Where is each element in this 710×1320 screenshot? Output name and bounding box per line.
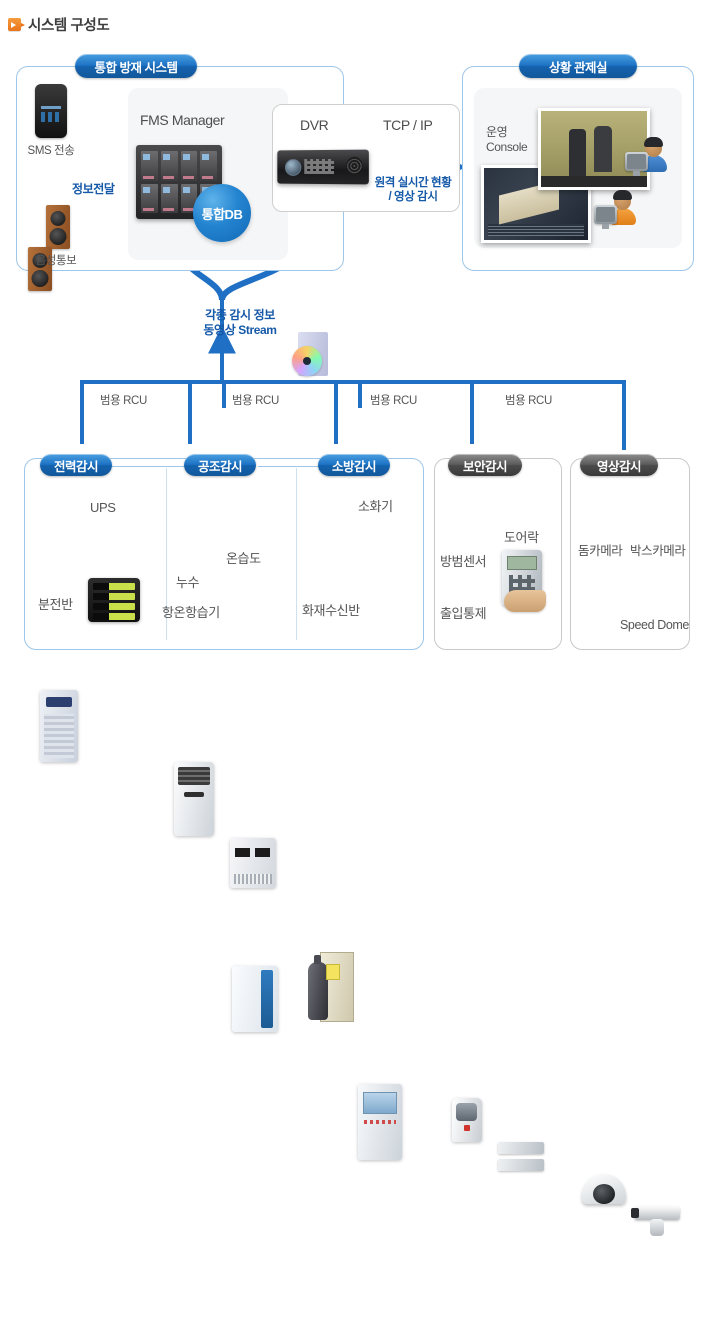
operator-blue-icon xyxy=(645,140,667,172)
rcu-bus-drop-3 xyxy=(334,380,338,444)
remote-label-line2: / 영상 감시 xyxy=(363,190,463,204)
operator-monitor-1-icon xyxy=(625,152,648,171)
distribution-panel-label: 분전반 xyxy=(38,594,73,613)
box-camera-icon xyxy=(634,1206,684,1240)
dome-camera-label: 돔카메라 xyxy=(578,540,622,559)
stream-label-line2: 동영상 Stream xyxy=(186,323,294,338)
fire-extinguisher-label: 소화기 xyxy=(358,496,393,515)
rcu-label-3: 범용 RCU xyxy=(370,392,417,408)
operator-orange-icon xyxy=(614,193,636,225)
tcpip-label: TCP / IP xyxy=(383,117,432,133)
door-lock-icon xyxy=(498,1142,544,1172)
leak-label: 누수 xyxy=(176,572,199,591)
badge-security-monitoring[interactable]: 보안감시 xyxy=(448,454,522,476)
rcu-bus-drop-2 xyxy=(188,380,192,444)
cd-media-icon xyxy=(292,332,332,378)
page-title-text: 시스템 구성도 xyxy=(28,14,109,35)
rcu-bus-drop-4 xyxy=(470,380,474,444)
distribution-panel-icon xyxy=(88,578,140,622)
page-title: 시스템 구성도 xyxy=(8,14,109,35)
air-conditioner-icon xyxy=(174,762,214,836)
ups-cabinet-icon xyxy=(40,690,78,762)
rcu-bus-drop-1 xyxy=(80,380,84,444)
temp-humidity-icon xyxy=(230,838,276,888)
hvac-label: 항온항습기 xyxy=(162,602,220,621)
access-control-icon xyxy=(494,550,564,630)
console-label-line1: 운영 xyxy=(486,125,527,140)
box-camera-label: 박스카메라 xyxy=(630,540,686,559)
badge-video-monitoring[interactable]: 영상감시 xyxy=(580,454,658,476)
temp-humidity-label: 온습도 xyxy=(226,548,261,567)
hvac-unit-icon xyxy=(232,966,278,1032)
remote-realtime-label: 원격 실시간 현황 / 영상 감시 xyxy=(363,176,463,204)
orange-arrow-icon xyxy=(8,18,21,31)
badge-fire-monitoring[interactable]: 소방감시 xyxy=(318,454,390,476)
fire-panel-icon xyxy=(358,1084,402,1160)
sms-send-label: SMS 전송 xyxy=(14,142,88,158)
rcu-label-4: 범용 RCU xyxy=(505,392,552,408)
ups-label: UPS xyxy=(90,500,116,515)
pill-link-1 xyxy=(110,466,190,467)
pill-link-2 xyxy=(258,466,320,467)
stream-label-line1: 각종 감시 정보 xyxy=(186,308,294,323)
rcu-bus-drop-2b xyxy=(222,380,226,408)
speed-dome-label: Speed Dome xyxy=(620,618,689,632)
badge-control-room[interactable]: 상황 관제실 xyxy=(519,54,637,78)
divider-2 xyxy=(296,468,297,640)
pir-sensor-label: 방범센서 xyxy=(440,551,486,570)
voice-notification-label: 음성통보 xyxy=(16,252,96,268)
badge-power-monitoring[interactable]: 전력감시 xyxy=(40,454,112,476)
remote-label-line1: 원격 실시간 현황 xyxy=(363,176,463,190)
smartphone-icon xyxy=(35,84,67,138)
operation-console-label: 운영 Console xyxy=(486,125,527,155)
left-category-group-panel xyxy=(24,458,424,650)
dome-camera-icon xyxy=(582,1174,626,1204)
dvr-label: DVR xyxy=(300,117,328,133)
cctv-screenshot xyxy=(538,108,650,190)
rcu-bus-drop-5 xyxy=(622,380,626,450)
rcu-label-1: 범용 RCU xyxy=(100,392,147,408)
badge-hvac-monitoring[interactable]: 공조감시 xyxy=(184,454,256,476)
fire-panel-label: 화재수신반 xyxy=(302,600,360,619)
console-label-line2: Console xyxy=(486,140,527,155)
fms-manager-label: FMS Manager xyxy=(140,112,224,128)
access-control-label: 출입통제 xyxy=(440,603,486,622)
rcu-bus-horizontal xyxy=(80,380,626,384)
stream-label: 각종 감시 정보 동영상 Stream xyxy=(186,308,294,338)
rcu-bus-drop-3b xyxy=(358,380,362,408)
rcu-label-2: 범용 RCU xyxy=(232,392,279,408)
speaker-icon xyxy=(28,203,82,249)
fire-extinguisher-icon xyxy=(306,952,354,1022)
system-architecture-diagram: 시스템 구성도 통합 방재 시스템 FMS Manager xyxy=(0,0,710,660)
pir-sensor-icon xyxy=(452,1098,482,1142)
badge-integrated-system[interactable]: 통합 방재 시스템 xyxy=(75,54,197,78)
dvr-device-icon xyxy=(277,150,369,185)
operator-monitor-2-icon xyxy=(594,205,617,224)
info-transfer-label: 정보전달 xyxy=(72,180,115,197)
door-lock-label: 도어락 xyxy=(504,527,539,546)
integrated-db-node[interactable]: 통합DB xyxy=(193,184,251,242)
